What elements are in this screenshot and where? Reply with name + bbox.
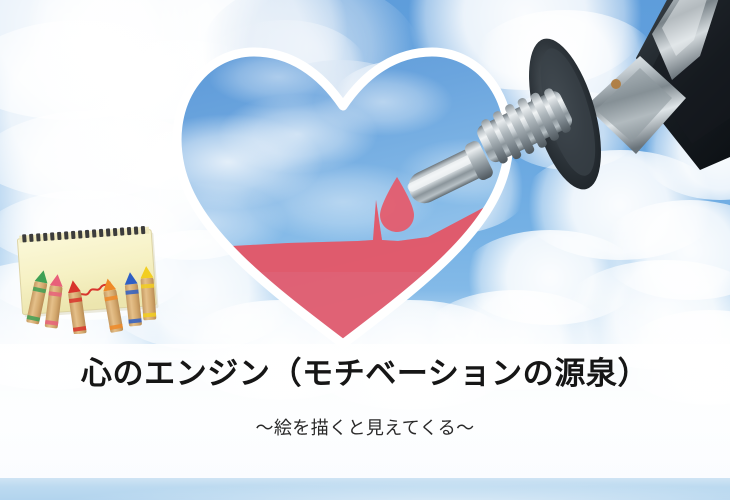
fuel-nozzle [400,0,730,230]
header-image-canvas: 心のエンジン（モチベーションの源泉） 〜絵を描くと見えてくる〜 [0,0,730,500]
bottom-blue-band [0,478,730,500]
page-subtitle: 〜絵を描くと見えてくる〜 [0,418,730,440]
sketchpad-with-crayons [14,222,162,334]
page-title: 心のエンジン（モチベーションの源泉） [0,357,730,391]
nozzle-spout-tip [402,139,495,212]
